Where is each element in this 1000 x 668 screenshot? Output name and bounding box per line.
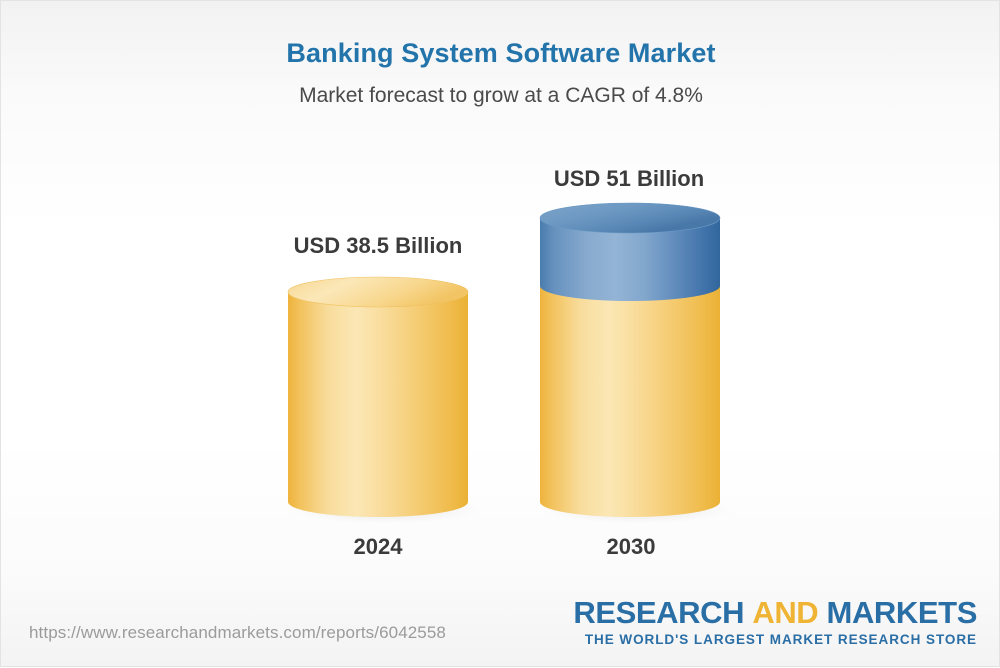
brand-word-markets: MARKETS — [827, 595, 977, 630]
value-label-2030: USD 51 Billion — [479, 166, 779, 192]
brand-tagline: THE WORLD'S LARGEST MARKET RESEARCH STOR… — [573, 633, 977, 647]
category-label-2030: 2030 — [481, 534, 781, 560]
infographic-root: Banking System Software Market Market fo… — [0, 0, 1000, 667]
value-label-2024: USD 38.5 Billion — [228, 233, 528, 259]
source-url-link[interactable]: https://www.researchandmarkets.com/repor… — [29, 623, 446, 643]
brand-word-research: RESEARCH — [573, 595, 744, 630]
chart-plot-area: USD 38.5 Billion — [1, 1, 1000, 668]
brand-name: RESEARCH AND MARKETS — [573, 597, 977, 628]
brand-word-and: AND — [752, 595, 818, 630]
brand-logo: RESEARCH AND MARKETS THE WORLD'S LARGEST… — [573, 597, 977, 647]
bar-top-cap-2024 — [288, 277, 468, 307]
bar-cylinder-2030 — [538, 202, 726, 522]
bar-cylinder-2024 — [287, 276, 471, 522]
bar-top-cap-2030 — [540, 203, 720, 233]
bar-body-2024 — [288, 277, 468, 517]
